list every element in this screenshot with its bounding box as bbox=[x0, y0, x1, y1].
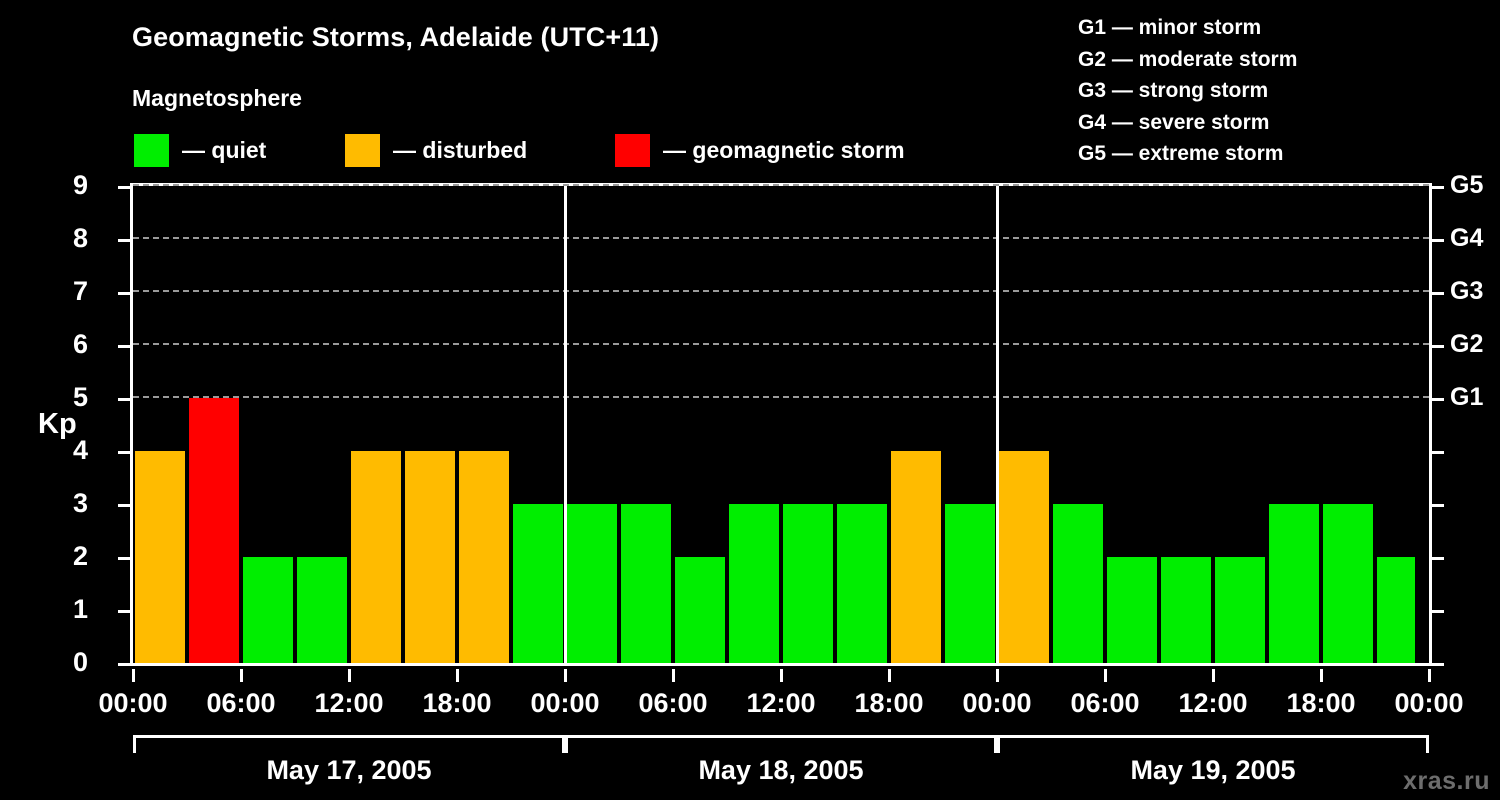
bar-kp bbox=[567, 504, 617, 663]
x-tick-mark bbox=[780, 669, 783, 682]
g-tick-label-g2: G2 bbox=[1450, 332, 1483, 357]
g-legend-item-g2: G2 — moderate storm bbox=[1078, 44, 1498, 76]
bar-kp bbox=[837, 504, 887, 663]
y-tick-mark-right-8 bbox=[1432, 239, 1444, 242]
x-tick-mark bbox=[1428, 669, 1431, 682]
x-tick-label: 00:00 bbox=[530, 688, 599, 719]
y-tick-label-8: 8 bbox=[48, 225, 88, 252]
x-tick-mark bbox=[1212, 669, 1215, 682]
bar-kp bbox=[1053, 504, 1103, 663]
bar-kp bbox=[999, 451, 1049, 663]
y-tick-mark-2 bbox=[118, 557, 130, 560]
x-tick-mark bbox=[456, 669, 459, 682]
y-tick-mark-right-3 bbox=[1432, 504, 1444, 507]
y-tick-label-9: 9 bbox=[48, 172, 88, 199]
day-label: May 19, 2005 bbox=[1130, 755, 1295, 786]
y-tick-mark-4 bbox=[118, 451, 130, 454]
y-tick-label-7: 7 bbox=[48, 278, 88, 305]
bar-kp bbox=[945, 504, 995, 663]
gridline-kp-8 bbox=[133, 237, 1429, 239]
y-tick-mark-right-2 bbox=[1432, 557, 1444, 560]
bar-kp bbox=[189, 398, 239, 663]
y-tick-mark-6 bbox=[118, 345, 130, 348]
bar-kp bbox=[1323, 504, 1373, 663]
g-tick-label-g4: G4 bbox=[1450, 226, 1483, 251]
y-tick-mark-5 bbox=[118, 398, 130, 401]
x-tick-label: 12:00 bbox=[1178, 688, 1247, 719]
gridline-kp-5 bbox=[133, 396, 1429, 398]
day-label: May 17, 2005 bbox=[266, 755, 431, 786]
x-tick-mark bbox=[996, 669, 999, 682]
y-tick-mark-right-9 bbox=[1432, 186, 1444, 189]
y-tick-mark-right-4 bbox=[1432, 451, 1444, 454]
y-tick-mark-right-0 bbox=[1432, 663, 1444, 666]
y-tick-label-1: 1 bbox=[48, 596, 88, 623]
bar-kp bbox=[1161, 557, 1211, 663]
g-legend-item-g5: G5 — extreme storm bbox=[1078, 138, 1498, 170]
watermark: xras.ru bbox=[1403, 767, 1490, 796]
y-tick-label-4: 4 bbox=[48, 437, 88, 464]
g-scale-legend: G1 — minor stormG2 — moderate stormG3 — … bbox=[1078, 12, 1498, 170]
x-tick-mark bbox=[888, 669, 891, 682]
day-bracket bbox=[997, 735, 1429, 753]
bar-kp bbox=[1377, 557, 1415, 663]
g-legend-item-g1: G1 — minor storm bbox=[1078, 12, 1498, 44]
y-tick-label-6: 6 bbox=[48, 331, 88, 358]
y-tick-label-2: 2 bbox=[48, 543, 88, 570]
x-tick-label: 00:00 bbox=[1394, 688, 1463, 719]
x-tick-label: 06:00 bbox=[638, 688, 707, 719]
x-tick-label: 18:00 bbox=[854, 688, 923, 719]
x-tick-label: 06:00 bbox=[206, 688, 275, 719]
chart-subtitle: Magnetosphere bbox=[132, 85, 302, 112]
bar-kp bbox=[405, 451, 455, 663]
y-tick-mark-right-1 bbox=[1432, 610, 1444, 613]
bar-kp bbox=[1269, 504, 1319, 663]
y-tick-mark-0 bbox=[118, 663, 130, 666]
y-axis-title: Kp bbox=[38, 408, 77, 441]
day-bracket bbox=[565, 735, 997, 753]
x-tick-mark bbox=[240, 669, 243, 682]
x-tick-mark bbox=[672, 669, 675, 682]
g-tick-label-g5: G5 bbox=[1450, 173, 1483, 198]
y-tick-mark-8 bbox=[118, 239, 130, 242]
x-tick-label: 00:00 bbox=[962, 688, 1031, 719]
x-tick-label: 12:00 bbox=[314, 688, 383, 719]
y-tick-mark-right-5 bbox=[1432, 398, 1444, 401]
y-tick-mark-3 bbox=[118, 504, 130, 507]
gridline-kp-7 bbox=[133, 290, 1429, 292]
y-tick-mark-9 bbox=[118, 186, 130, 189]
bar-kp bbox=[621, 504, 671, 663]
bar-kp bbox=[513, 504, 563, 663]
legend-label-geomagnetic-storm: — geomagnetic storm bbox=[663, 137, 905, 164]
day-separator bbox=[564, 186, 567, 663]
bar-kp bbox=[135, 451, 185, 663]
y-tick-mark-right-7 bbox=[1432, 292, 1444, 295]
x-tick-label: 12:00 bbox=[746, 688, 815, 719]
bar-kp bbox=[351, 451, 401, 663]
y-tick-label-5: 5 bbox=[48, 384, 88, 411]
gridline-kp-6 bbox=[133, 343, 1429, 345]
page-title: Geomagnetic Storms, Adelaide (UTC+11) bbox=[132, 22, 659, 53]
bar-kp bbox=[783, 504, 833, 663]
legend-entry-geomagnetic-storm: — geomagnetic storm bbox=[615, 133, 905, 167]
x-tick-mark bbox=[564, 669, 567, 682]
legend-entry-quiet: — quiet bbox=[134, 133, 266, 167]
g-tick-label-g1: G1 bbox=[1450, 385, 1483, 410]
bar-kp bbox=[1215, 557, 1265, 663]
x-tick-mark bbox=[132, 669, 135, 682]
legend-swatch-quiet bbox=[134, 134, 169, 167]
x-tick-mark bbox=[1320, 669, 1323, 682]
y-tick-label-0: 0 bbox=[48, 649, 88, 676]
x-tick-label: 06:00 bbox=[1070, 688, 1139, 719]
g-legend-item-g4: G4 — severe storm bbox=[1078, 107, 1498, 139]
day-separator bbox=[996, 186, 999, 663]
legend-swatch-geomagnetic-storm bbox=[615, 134, 650, 167]
y-tick-mark-7 bbox=[118, 292, 130, 295]
gridline-kp-9 bbox=[133, 184, 1429, 186]
x-tick-label: 00:00 bbox=[98, 688, 167, 719]
bar-kp bbox=[459, 451, 509, 663]
day-bracket bbox=[133, 735, 565, 753]
plot-area bbox=[133, 186, 1429, 663]
bar-kp bbox=[729, 504, 779, 663]
y-tick-mark-right-6 bbox=[1432, 345, 1444, 348]
x-tick-label: 18:00 bbox=[422, 688, 491, 719]
bar-kp bbox=[243, 557, 293, 663]
bar-kp bbox=[675, 557, 725, 663]
legend-label-quiet: — quiet bbox=[182, 137, 266, 164]
bar-kp bbox=[1107, 557, 1157, 663]
x-tick-mark bbox=[1104, 669, 1107, 682]
day-label: May 18, 2005 bbox=[698, 755, 863, 786]
y-tick-label-3: 3 bbox=[48, 490, 88, 517]
legend-label-disturbed: — disturbed bbox=[393, 137, 527, 164]
legend-swatch-disturbed bbox=[345, 134, 380, 167]
x-tick-mark bbox=[348, 669, 351, 682]
g-legend-item-g3: G3 — strong storm bbox=[1078, 75, 1498, 107]
bar-kp bbox=[891, 451, 941, 663]
plot-frame bbox=[130, 183, 1432, 666]
x-tick-label: 18:00 bbox=[1286, 688, 1355, 719]
legend-entry-disturbed: — disturbed bbox=[345, 133, 527, 167]
y-tick-mark-1 bbox=[118, 610, 130, 613]
bar-kp bbox=[297, 557, 347, 663]
g-tick-label-g3: G3 bbox=[1450, 279, 1483, 304]
